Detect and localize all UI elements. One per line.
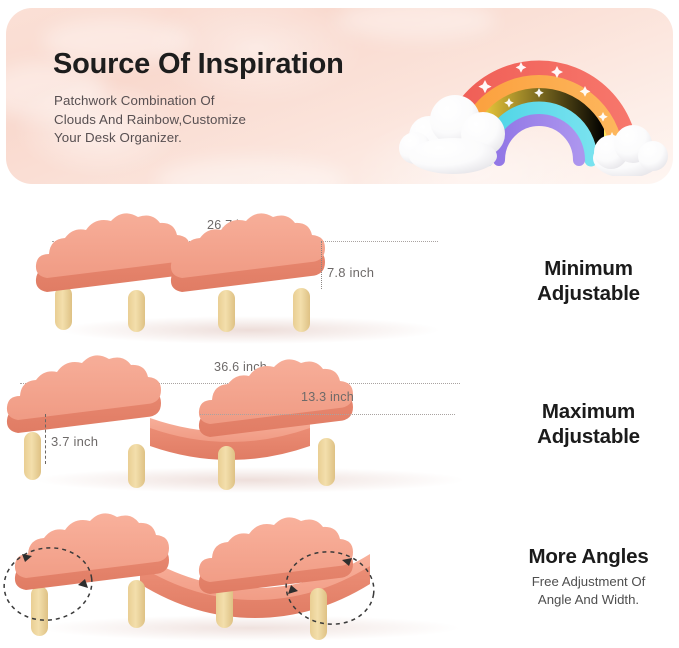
- caption-subtitle-line-1: Free Adjustment Of: [498, 573, 679, 591]
- dimension-line-depth: [321, 241, 322, 289]
- header-banner: Source Of Inspiration Patchwork Combinat…: [6, 8, 673, 184]
- caption-maximum: Maximum Adjustable: [498, 399, 679, 449]
- dimension-label-height: 3.7 inch: [51, 434, 98, 449]
- cloud-panel-right: [171, 213, 325, 292]
- caption-title-line-2: Adjustable: [498, 281, 679, 306]
- page-subtitle: Patchwork Combination Of Clouds And Rain…: [54, 92, 354, 148]
- dimension-line-panel-width: [200, 414, 455, 415]
- dimension-label-depth: 7.8 inch: [327, 265, 374, 280]
- subtitle-line-1: Patchwork Combination Of: [54, 92, 354, 111]
- cloud-panel-left: [7, 355, 161, 433]
- caption-title-line-1: Maximum: [498, 399, 679, 424]
- subtitle-line-2: Clouds And Rainbow,Customize: [54, 111, 354, 130]
- dimension-line-height: [45, 414, 46, 464]
- dimension-label-panel-width: 13.3 inch: [301, 390, 354, 404]
- section-more-angles: More Angles Free Adjustment Of Angle And…: [0, 502, 679, 648]
- caption-title-line-1: Minimum: [498, 256, 679, 281]
- product-illustration-maximum: [0, 352, 500, 502]
- caption-title-line-1: More Angles: [498, 544, 679, 569]
- rainbow-icon: [389, 36, 673, 176]
- product-stage-maximum: 36.6 inch: [0, 352, 500, 502]
- page-title: Source Of Inspiration: [53, 48, 344, 81]
- product-stage-angles: [0, 502, 500, 648]
- caption-title-line-2: Adjustable: [498, 424, 679, 449]
- section-minimum: 26.7 inch: [0, 210, 679, 350]
- section-maximum: 36.6 inch: [0, 352, 679, 502]
- caption-subtitle-line-2: Angle And Width.: [498, 591, 679, 609]
- product-illustration-minimum: [0, 210, 500, 350]
- product-stage-minimum: 26.7 inch: [0, 210, 500, 350]
- infographic-page: Source Of Inspiration Patchwork Combinat…: [0, 0, 679, 648]
- caption-minimum: Minimum Adjustable: [498, 256, 679, 306]
- cloud-panel-left: [36, 213, 190, 292]
- background-cloud-decoration: [156, 158, 346, 184]
- subtitle-line-3: Your Desk Organizer.: [54, 129, 354, 148]
- caption-more-angles: More Angles Free Adjustment Of Angle And…: [498, 544, 679, 608]
- product-illustration-angles: [0, 502, 500, 648]
